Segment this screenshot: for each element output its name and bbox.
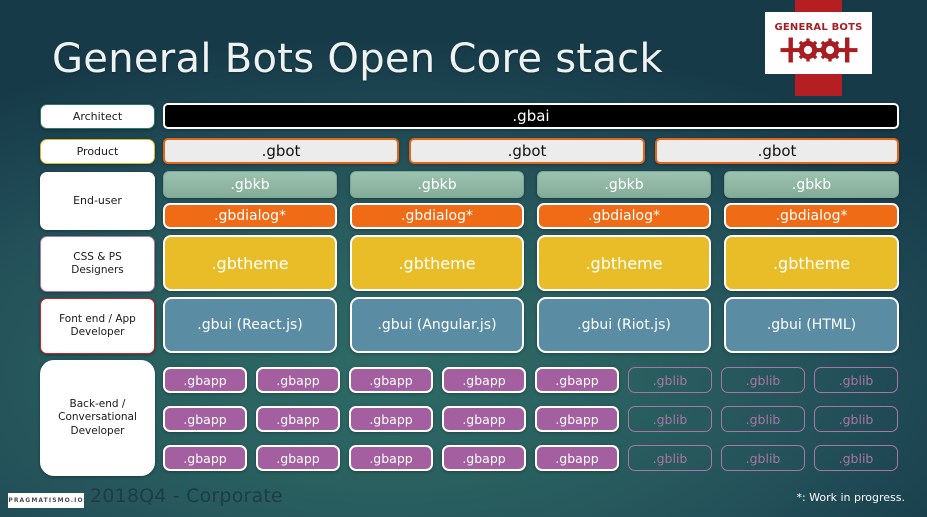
cell-gbapp-r1c1[interactable]: .gbapp	[163, 367, 247, 393]
pragmatismo-wordmark: PRAGMATISMO.IO	[8, 497, 83, 504]
role-label-back-end-conversational-developer: Back-end / Conversational Developer	[40, 360, 155, 476]
role-label-end-user: End-user	[40, 172, 155, 230]
cell-gbot-1[interactable]: .gbot	[163, 138, 399, 164]
logo: GENERAL BOTS	[765, 12, 872, 74]
cell-gblib-r3c3[interactable]: .gblib	[814, 445, 898, 471]
cell-gbtheme-3[interactable]: .gbtheme	[537, 235, 711, 291]
cell-gbkb-1[interactable]: .gbkb	[163, 171, 337, 198]
cell-gbdialog-3[interactable]: .gbdialog*	[537, 203, 711, 229]
cell-gbapp-r2c2[interactable]: .gbapp	[256, 406, 340, 432]
role-label-architect: Architect	[40, 104, 155, 129]
cell-gblib-r1c3[interactable]: .gblib	[814, 367, 898, 393]
role-label-css-ps-designers: CSS & PS Designers	[40, 236, 155, 292]
cell-gbtheme-1[interactable]: .gbtheme	[163, 235, 337, 291]
footer-note: 2018Q4 - Corporate	[90, 485, 283, 507]
cell-gbtheme-4[interactable]: .gbtheme	[724, 235, 899, 291]
slide-header: General Bots Open Core stack GENERAL BOT…	[0, 0, 927, 100]
cell-gblib-r2c3[interactable]: .gblib	[814, 406, 898, 432]
pragmatismo-logo: PRAGMATISMO.IO	[8, 493, 84, 508]
cell-gbai[interactable]: .gbai	[163, 103, 899, 129]
cell-gbdialog-1[interactable]: .gbdialog*	[163, 203, 337, 229]
cell-gbkb-3[interactable]: .gbkb	[537, 171, 711, 198]
cell-gbapp-r2c5[interactable]: .gbapp	[535, 406, 619, 432]
cell-gbapp-r1c2[interactable]: .gbapp	[256, 367, 340, 393]
cell-gbapp-r1c3[interactable]: .gbapp	[349, 367, 433, 393]
cell-gbapp-r2c3[interactable]: .gbapp	[349, 406, 433, 432]
work-in-progress-note: *: Work in progress.	[796, 491, 905, 504]
cell-gbot-3[interactable]: .gbot	[655, 138, 899, 164]
cell-gbkb-4[interactable]: .gbkb	[724, 171, 899, 198]
page-title: General Bots Open Core stack	[52, 36, 663, 82]
cell-gbui-html[interactable]: .gbui (HTML)	[724, 297, 899, 353]
cell-gbapp-r2c1[interactable]: .gbapp	[163, 406, 247, 432]
cell-gbapp-r3c4[interactable]: .gbapp	[442, 445, 526, 471]
gears-bracket-icon	[777, 35, 861, 65]
cell-gbapp-r3c1[interactable]: .gbapp	[163, 445, 247, 471]
role-label-front-end-app-developer: Font end / App Developer	[40, 298, 155, 354]
cell-gbapp-r1c5[interactable]: .gbapp	[535, 367, 619, 393]
cell-gbapp-r1c4[interactable]: .gbapp	[442, 367, 526, 393]
cell-gblib-r1c2[interactable]: .gblib	[721, 367, 805, 393]
cell-gbapp-r3c5[interactable]: .gbapp	[535, 445, 619, 471]
cell-gbapp-r3c2[interactable]: .gbapp	[256, 445, 340, 471]
cell-gbot-2[interactable]: .gbot	[409, 138, 645, 164]
slide-footer: PRAGMATISMO.IO 2018Q4 - Corporate *: Wor…	[0, 488, 927, 517]
cell-gbkb-2[interactable]: .gbkb	[350, 171, 524, 198]
cell-gbdialog-4[interactable]: .gbdialog*	[724, 203, 899, 229]
cell-gbui-angular[interactable]: .gbui (Angular.js)	[350, 297, 524, 353]
cell-gblib-r3c1[interactable]: .gblib	[628, 445, 712, 471]
cell-gbui-riot[interactable]: .gbui (Riot.js)	[537, 297, 711, 353]
cell-gblib-r2c2[interactable]: .gblib	[721, 406, 805, 432]
cell-gblib-r3c2[interactable]: .gblib	[721, 445, 805, 471]
cell-gbapp-r3c3[interactable]: .gbapp	[349, 445, 433, 471]
cell-gbui-react[interactable]: .gbui (React.js)	[163, 297, 337, 353]
logo-wordmark: GENERAL BOTS	[774, 22, 862, 33]
cell-gblib-r1c1[interactable]: .gblib	[628, 367, 712, 393]
cell-gbapp-r2c4[interactable]: .gbapp	[442, 406, 526, 432]
cell-gblib-r2c1[interactable]: .gblib	[628, 406, 712, 432]
role-label-product: Product	[40, 139, 155, 164]
cell-gbtheme-2[interactable]: .gbtheme	[350, 235, 524, 291]
cell-gbdialog-2[interactable]: .gbdialog*	[350, 203, 524, 229]
